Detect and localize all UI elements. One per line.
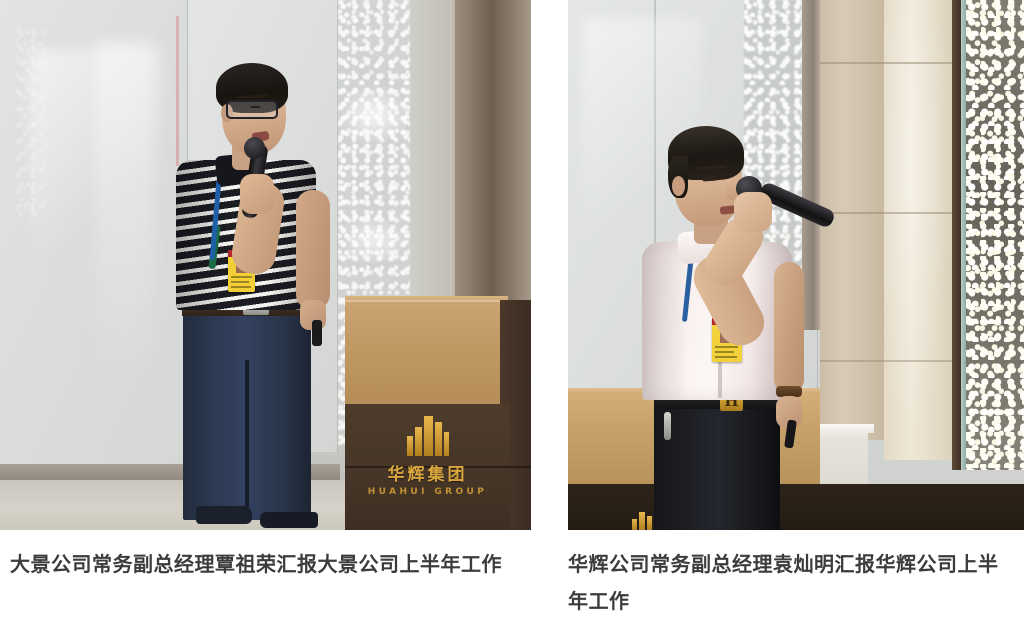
id-badge-text-line (231, 276, 252, 278)
podium-logo-en: HUAHUI GROUP (368, 487, 488, 497)
podium-logo-cn: 华辉集团 (388, 460, 468, 485)
panel-backlight-glow (966, 0, 1024, 470)
speaker-shoe-left (196, 506, 252, 524)
huahui-building-icon (405, 416, 451, 456)
presenter-remote (312, 320, 322, 346)
id-badge-text-line (231, 286, 251, 288)
podium-logo: 华辉集团 HUAHUI GROUP (345, 410, 510, 530)
photo-left[interactable]: 华辉集团 HUAHUI GROUP (0, 0, 531, 530)
id-badge-text-line (715, 346, 738, 348)
wood-column (455, 0, 531, 300)
caption-right: 华辉公司常务副总经理袁灿明汇报华辉公司上半年工作 (568, 546, 1008, 620)
wall-accent-stripe (176, 16, 179, 166)
speaker-ear (672, 176, 685, 196)
distant-speckle-panel (16, 28, 46, 218)
speaker-shoe-right (260, 512, 318, 528)
photo-gallery-page: 华辉集团 HUAHUI GROUP 大景公司常务副总经理覃祖荣汇报大景公司上半年… (0, 0, 1024, 632)
figure-right: H (568, 0, 1024, 530)
marble-tile-line (820, 212, 952, 214)
glass-reflection-2 (95, 40, 155, 370)
panel-highlight-2 (338, 215, 410, 265)
eyeglasses (226, 100, 278, 119)
id-badge-text-line (715, 351, 734, 353)
speaker-trousers (654, 388, 780, 530)
panel-highlight-1 (338, 85, 410, 145)
pocket-clip (664, 412, 671, 440)
speaker-right-arm (774, 262, 804, 394)
marble-tile-line (820, 62, 952, 64)
huahui-building-icon-partial (630, 508, 656, 530)
photo-right[interactable]: H (568, 0, 1024, 530)
id-badge-text-line (715, 356, 737, 358)
speaker-right-arm (296, 190, 330, 310)
figure-left: 华辉集团 HUAHUI GROUP 大景公司常务副总经理覃祖荣汇报大景公司上半年… (0, 0, 531, 530)
speaker-left-hand (240, 174, 274, 214)
marble-highlight (884, 0, 952, 460)
jeans-seam (245, 360, 249, 520)
marble-tile-line (820, 360, 952, 362)
dark-wood-trim (952, 0, 961, 470)
eyeglasses-bridge (251, 106, 260, 108)
podium-wood-top (345, 300, 500, 404)
caption-left: 大景公司常务副总经理覃祖荣汇报大景公司上半年工作 (10, 546, 525, 583)
door-frame (802, 0, 820, 330)
speaker-left-hand (734, 192, 772, 232)
id-badge-text-line (231, 281, 249, 283)
